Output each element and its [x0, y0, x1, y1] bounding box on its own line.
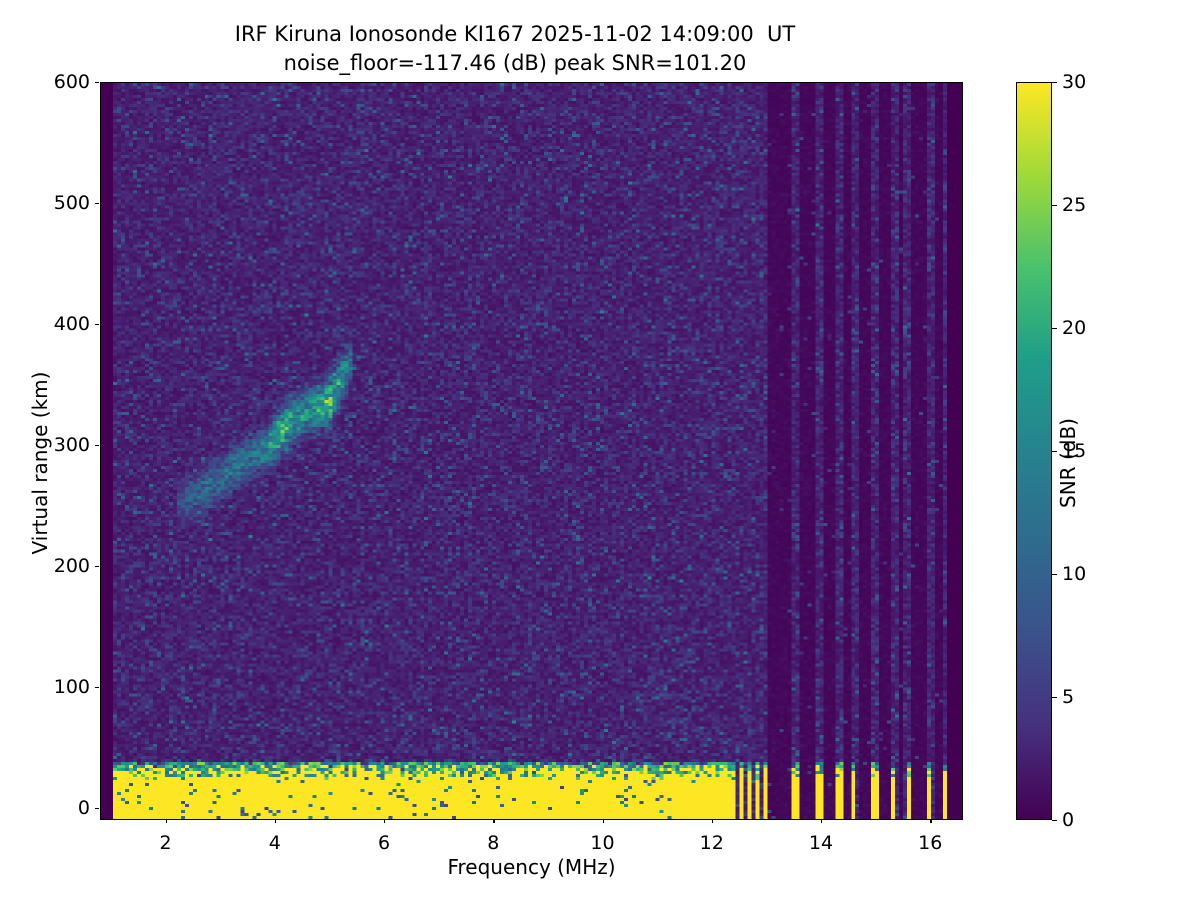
- title-line-1: IRF Kiruna Ionosonde KI167 2025-11-02 14…: [0, 20, 1030, 49]
- x-tick-label-2: 2: [159, 832, 171, 854]
- ionogram-heatmap: [101, 83, 962, 819]
- x-tick-label-8: 8: [487, 832, 499, 854]
- y-tick-0: [95, 808, 99, 809]
- y-tick-600: [95, 82, 99, 83]
- colorbar-tick-label-25: 25: [1062, 194, 1086, 216]
- colorbar-tick-label-30: 30: [1062, 71, 1086, 93]
- x-axis-title: Frequency (MHz): [100, 855, 963, 879]
- plot-area: [100, 82, 963, 820]
- colorbar-tick-25: [1052, 205, 1057, 206]
- y-tick-200: [95, 566, 99, 567]
- x-tick-label-14: 14: [809, 832, 833, 854]
- y-tick-300: [95, 445, 99, 446]
- x-tick-label-4: 4: [269, 832, 281, 854]
- y-tick-400: [95, 324, 99, 325]
- x-tick-label-10: 10: [590, 832, 614, 854]
- ionogram-figure: IRF Kiruna Ionosonde KI167 2025-11-02 14…: [0, 0, 1200, 900]
- colorbar-tick-label-0: 0: [1062, 809, 1074, 831]
- colorbar-tick-30: [1052, 82, 1057, 83]
- x-tick-label-16: 16: [918, 832, 942, 854]
- x-tick-label-12: 12: [700, 832, 724, 854]
- y-tick-label-400: 400: [54, 313, 90, 335]
- x-tick-label-6: 6: [378, 832, 390, 854]
- y-axis-title: Virtual range (km): [28, 93, 52, 833]
- colorbar-tick-0: [1052, 820, 1057, 821]
- figure-title: IRF Kiruna Ionosonde KI167 2025-11-02 14…: [0, 20, 1030, 78]
- title-line-2: noise_floor=-117.46 (dB) peak SNR=101.20: [0, 49, 1030, 78]
- y-tick-label-500: 500: [54, 192, 90, 214]
- y-tick-label-100: 100: [54, 676, 90, 698]
- y-tick-label-200: 200: [54, 555, 90, 577]
- y-tick-500: [95, 203, 99, 204]
- y-tick-label-0: 0: [78, 797, 90, 819]
- colorbar-title: SNR (dB): [1056, 223, 1080, 703]
- y-tick-100: [95, 687, 99, 688]
- x-tick-labels: 246810121416: [100, 826, 963, 856]
- colorbar-ticks: 051015202530: [1016, 82, 1052, 820]
- y-tick-label-600: 600: [54, 71, 90, 93]
- y-tick-label-300: 300: [54, 434, 90, 456]
